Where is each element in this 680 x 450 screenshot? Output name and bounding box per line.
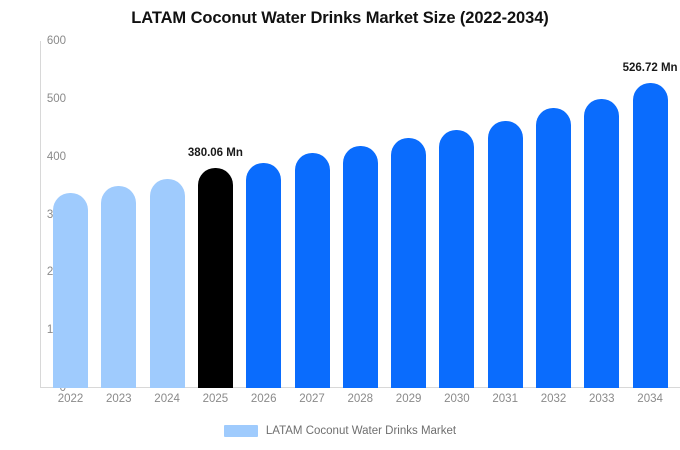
bar-2024[interactable] [150,179,185,388]
bar-2032[interactable] [536,108,571,388]
bar-2022[interactable] [53,193,88,388]
x-tick-label-2024: 2024 [154,393,180,405]
x-tick-label-2027: 2027 [299,393,325,405]
y-tick-label: 400 [32,151,66,163]
x-tick-label-2022: 2022 [58,393,84,405]
chart-title: LATAM Coconut Water Drinks Market Size (… [0,9,680,28]
x-tick-label-2026: 2026 [251,393,277,405]
x-tick-label-2025: 2025 [203,393,229,405]
plot-area: 0100200300400500600 20222023202420252026… [40,41,680,388]
y-tick-label: 600 [32,35,66,47]
x-tick-label-2030: 2030 [444,393,470,405]
bar-2028[interactable] [343,146,378,388]
bar-2026[interactable] [246,163,281,388]
x-tick-label-2032: 2032 [541,393,567,405]
x-tick-label-2034: 2034 [637,393,663,405]
x-tick-label-2031: 2031 [492,393,518,405]
x-tick-label-2033: 2033 [589,393,615,405]
bar-2033[interactable] [584,99,619,388]
x-tick-label-2028: 2028 [348,393,374,405]
bar-2027[interactable] [295,153,330,388]
x-tick-label-2029: 2029 [396,393,422,405]
legend-swatch [224,425,258,437]
bar-2030[interactable] [439,130,474,389]
bar-2029[interactable] [391,138,426,388]
chart-container: LATAM Coconut Water Drinks Market Size (… [0,0,680,450]
chart-legend: LATAM Coconut Water Drinks Market [0,425,680,437]
bar-2025[interactable] [198,168,233,388]
bar-2031[interactable] [488,121,523,388]
y-tick-label: 500 [32,93,66,105]
value-label-2034: 526.72 Mn [623,62,678,74]
bar-2023[interactable] [101,186,136,388]
legend-label: LATAM Coconut Water Drinks Market [266,425,456,437]
value-label-2025: 380.06 Mn [188,147,243,159]
x-tick-label-2023: 2023 [106,393,132,405]
bar-2034[interactable] [633,83,668,388]
